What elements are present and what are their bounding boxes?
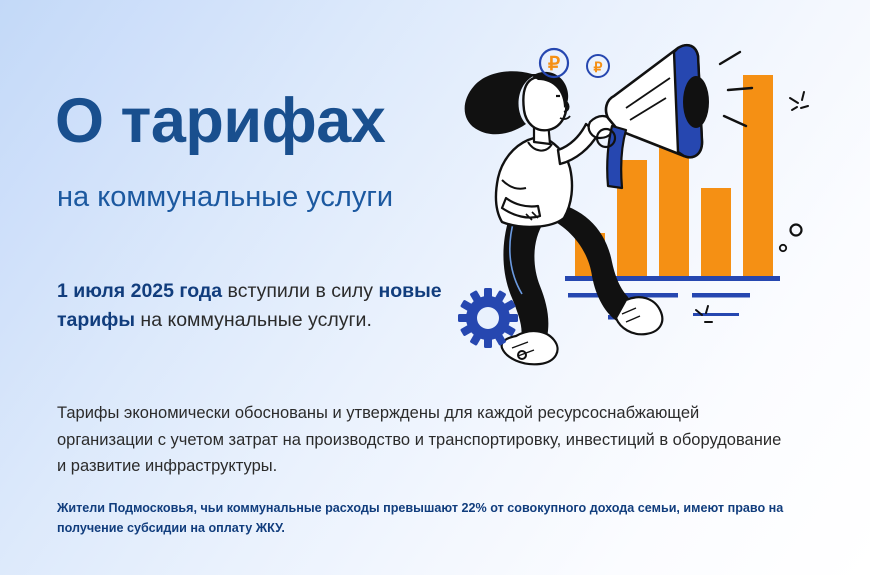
coin-large-symbol: ₽ bbox=[548, 54, 560, 75]
dot-small-right bbox=[780, 245, 786, 251]
page-title: О тарифах bbox=[55, 90, 385, 153]
sparkle-icon-top bbox=[790, 92, 808, 110]
lead-mid: вступили в силу bbox=[222, 280, 378, 302]
dot-medium-right bbox=[791, 225, 802, 236]
body-paragraph: Тарифы экономически обоснованы и утвержд… bbox=[57, 400, 787, 480]
shoe-back bbox=[502, 331, 558, 364]
page-subtitle: на коммунальные услуги bbox=[57, 180, 393, 215]
lead-paragraph: 1 июля 2025 года вступили в силу новые т… bbox=[57, 277, 457, 334]
coin-large: ₽ bbox=[540, 49, 568, 77]
megaphone-inner bbox=[683, 76, 709, 128]
bar-5 bbox=[743, 75, 773, 276]
bar-3 bbox=[659, 142, 689, 276]
placeholder-line-2 bbox=[692, 293, 750, 298]
subsidy-note: Жители Подмосковья, чьи коммунальные рас… bbox=[57, 498, 787, 538]
poster-root: О тарифах на коммунальные услуги 1 июля … bbox=[0, 0, 870, 575]
lead-date: 1 июля 2025 года bbox=[57, 280, 222, 302]
lead-tail: на коммунальные услуги. bbox=[135, 309, 372, 331]
bar-4 bbox=[701, 188, 731, 276]
coin-small-symbol: ₽ bbox=[594, 59, 603, 75]
coin-small: ₽ bbox=[587, 55, 609, 77]
illustration: ₽ ₽ bbox=[440, 30, 870, 370]
